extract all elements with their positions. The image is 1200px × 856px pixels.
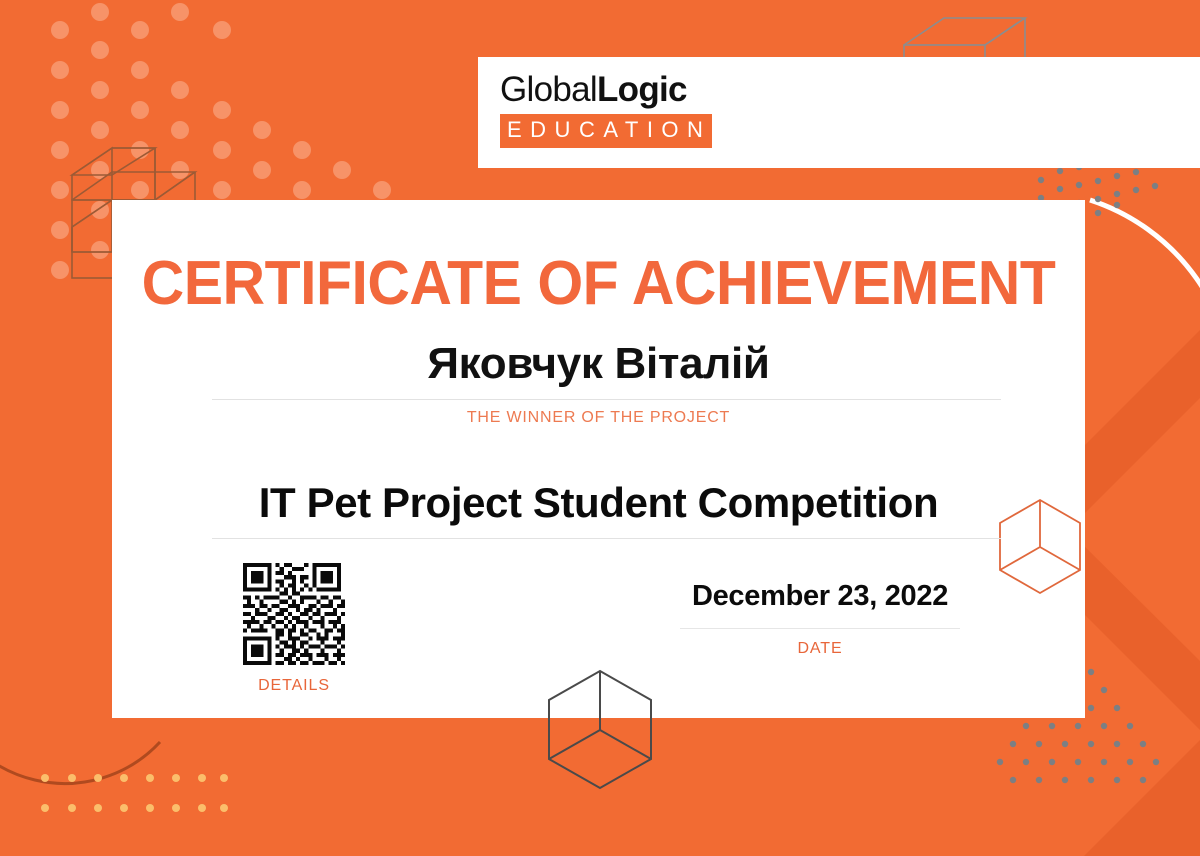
date-block: December 23, 2022 DATE	[680, 580, 960, 658]
date-value: December 23, 2022	[680, 580, 960, 613]
qr-code-icon[interactable]	[243, 563, 345, 665]
logo-sub-brand: EDUCATION	[500, 114, 712, 148]
recipient-name: Яковчук Віталій	[112, 339, 1085, 389]
divider-project	[212, 538, 1001, 539]
globallogic-education-logo: GlobalLogic EDUCATION	[500, 70, 730, 148]
white-arc-right	[1090, 200, 1200, 405]
bottom-left-dots	[41, 774, 228, 812]
winner-label: THE WINNER OF THE PROJECT	[112, 409, 1085, 427]
project-title: IT Pet Project Student Competition	[112, 479, 1085, 527]
qr-details-block[interactable]: DETAILS	[240, 563, 348, 695]
logo-brand-bold: Logic	[597, 70, 687, 109]
divider-date	[680, 628, 960, 629]
logo-brand-light: Global	[500, 70, 597, 109]
date-label: DATE	[680, 640, 960, 658]
divider-name	[212, 399, 1001, 400]
page-title: CERTIFICATE OF ACHIEVEMENT	[136, 248, 1060, 319]
logo-wordmark: GlobalLogic	[500, 70, 730, 110]
qr-label: DETAILS	[240, 677, 348, 695]
certificate-page: GlobalLogic EDUCATION CERTIFICATE OF ACH…	[0, 0, 1200, 856]
certificate-card: CERTIFICATE OF ACHIEVEMENT Яковчук Вітал…	[112, 200, 1085, 718]
